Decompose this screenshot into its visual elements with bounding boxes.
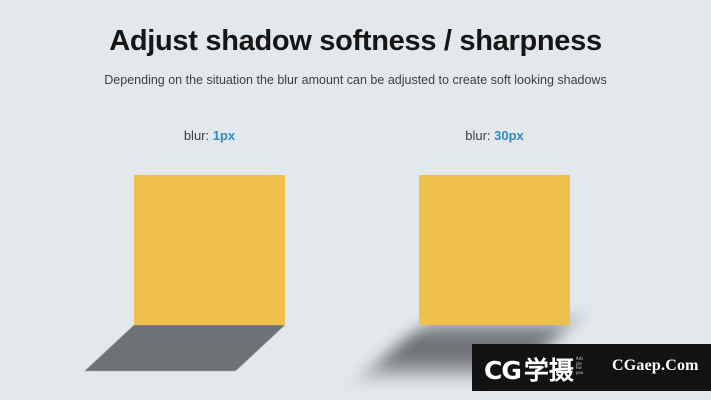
demo-figure-sharp — [134, 175, 285, 325]
page-subtitle: Depending on the situation the blur amou… — [0, 71, 711, 89]
demo-label-right: blur: 30px — [419, 128, 570, 143]
watermark-logo-tagline: Article For you — [576, 357, 585, 375]
demo-figure-soft — [419, 175, 570, 325]
card-square-left — [134, 175, 285, 325]
blur-label-value-right: 30px — [494, 128, 524, 143]
watermark-bar: CG 学摄 Article For you CGaep.Com — [472, 344, 711, 391]
demo-label-left: blur: 1px — [134, 128, 285, 143]
slide-canvas: Adjust shadow softness / sharpness Depen… — [0, 0, 711, 400]
blur-label-key-left: blur: — [184, 128, 209, 143]
watermark-logo-latin: CG — [484, 358, 521, 384]
page-title: Adjust shadow softness / sharpness — [0, 23, 711, 59]
blur-label-key-right: blur: — [465, 128, 490, 143]
cast-shadow-sharp — [85, 325, 285, 371]
watermark-domain: CGaep.Com — [612, 357, 699, 375]
blur-label-value-left: 1px — [213, 128, 235, 143]
watermark-logo: CG 学摄 Article For you — [484, 350, 585, 384]
card-square-right — [419, 175, 570, 325]
watermark-logo-cjk: 学摄 — [524, 358, 574, 384]
